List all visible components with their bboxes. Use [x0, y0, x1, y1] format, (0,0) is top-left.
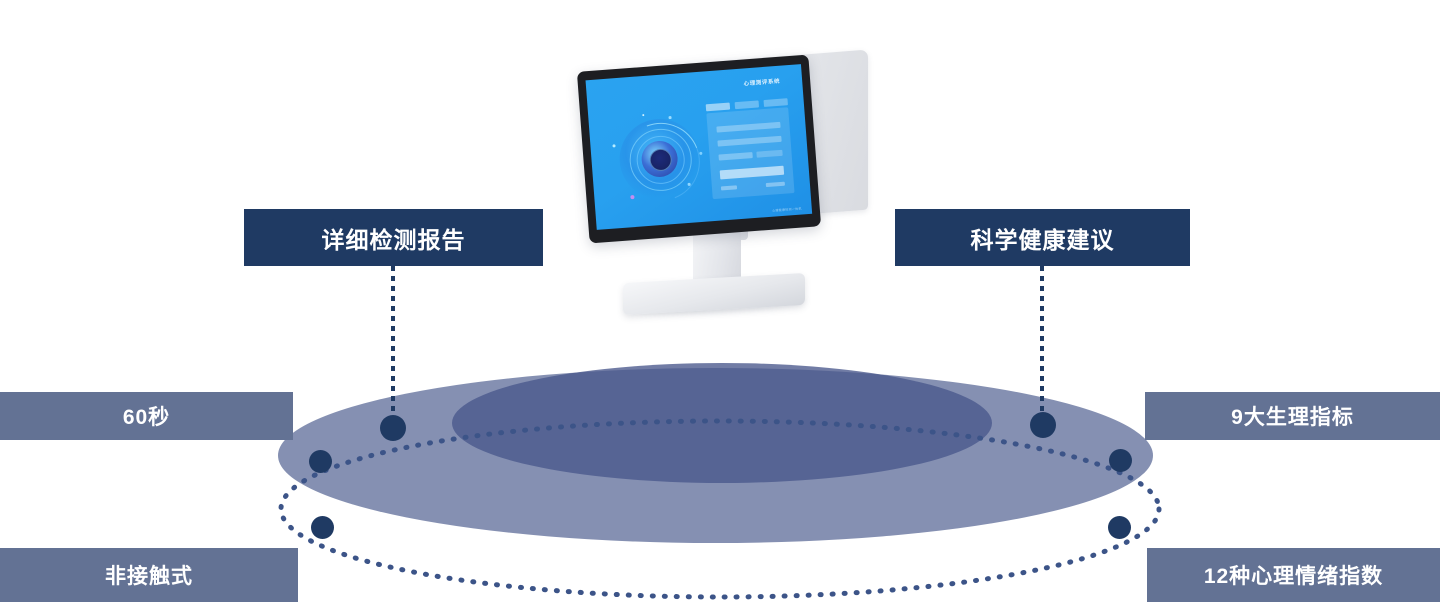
screen-footer-text: 心理健康检测一体机	[772, 206, 802, 212]
login-tab-strip	[706, 98, 788, 111]
connector-line-report	[391, 266, 395, 418]
feature-label-report[interactable]: 详细检测报告	[244, 209, 543, 266]
node-dot-report	[380, 415, 406, 441]
orb-particle	[699, 152, 702, 155]
feature-label-advice[interactable]: 科学健康建议	[895, 209, 1190, 266]
feature-label-seconds[interactable]: 60秒	[0, 392, 293, 440]
infographic-canvas: 心理测评系统	[0, 0, 1440, 602]
feature-label-emotion[interactable]: 12种心理情绪指数	[1147, 548, 1440, 602]
login-tab-card[interactable]	[764, 98, 788, 107]
username-field[interactable]	[716, 122, 780, 133]
node-dot-seconds	[309, 450, 332, 473]
orb-particle	[630, 195, 634, 199]
platform-ellipse-inner	[452, 363, 992, 483]
forgot-password-link[interactable]	[766, 182, 785, 187]
orb-particle	[612, 144, 615, 147]
kiosk-device: 心理测评系统	[575, 50, 875, 315]
login-card	[706, 107, 794, 199]
password-field[interactable]	[717, 136, 781, 147]
feature-label-indices[interactable]: 9大生理指标	[1145, 392, 1440, 440]
screen-title: 心理测评系统	[743, 77, 780, 88]
orb-particle	[688, 183, 691, 186]
captcha-field[interactable]	[718, 152, 752, 161]
device-screen: 心理测评系统	[586, 64, 813, 230]
node-dot-contactless	[311, 516, 334, 539]
captcha-image[interactable]	[756, 150, 782, 158]
node-dot-advice	[1030, 412, 1056, 438]
device-stand-base	[623, 273, 805, 315]
register-link[interactable]	[721, 185, 737, 190]
login-tab-qrcode[interactable]	[735, 100, 759, 109]
orb-particle	[668, 116, 671, 119]
node-dot-indices	[1109, 449, 1132, 472]
login-tab-account[interactable]	[706, 103, 730, 112]
login-submit-button[interactable]	[720, 166, 784, 180]
connector-line-advice	[1040, 266, 1044, 414]
node-dot-emotion	[1108, 516, 1131, 539]
orb-particle	[642, 114, 644, 116]
display-bezel: 心理测评系统	[577, 55, 821, 244]
feature-label-contactless[interactable]: 非接触式	[0, 548, 298, 602]
hero-orb-graphic	[608, 108, 711, 211]
